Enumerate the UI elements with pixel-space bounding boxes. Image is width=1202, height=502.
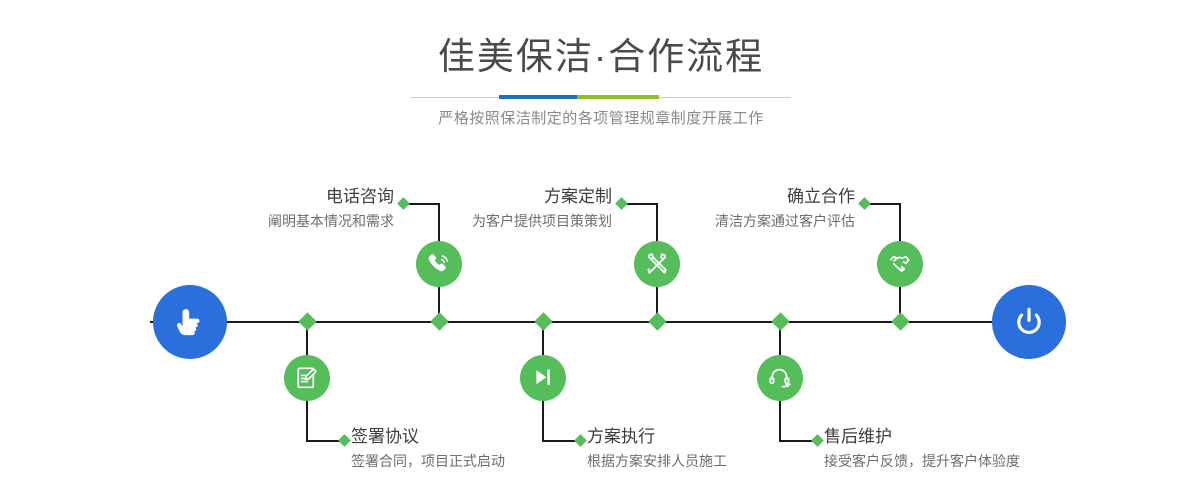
flow-end-endpoint bbox=[992, 285, 1066, 359]
process-flow-diagram: 电话咨询 阐明基本情况和需求 签署协议 签署合同，项目正式启动 bbox=[0, 0, 1202, 502]
phone-call-icon bbox=[426, 251, 452, 277]
step-icon-circle-1 bbox=[416, 241, 462, 287]
handshake-icon bbox=[887, 251, 913, 277]
step-icon-circle-2 bbox=[284, 355, 330, 401]
axis-marker-step-2 bbox=[298, 312, 316, 330]
step-title-2: 签署协议 bbox=[351, 426, 611, 448]
step-label-3: 方案定制 为客户提供项目策策划 bbox=[367, 186, 612, 232]
step-title-5: 确立合作 bbox=[610, 186, 855, 208]
step-label-1: 电话咨询 阐明基本情况和需求 bbox=[149, 186, 394, 232]
step-desc-5: 清洁方案通过客户评估 bbox=[610, 210, 855, 232]
axis-marker-step-6 bbox=[771, 312, 789, 330]
axis-marker-step-4 bbox=[534, 312, 552, 330]
step-icon-circle-6 bbox=[757, 355, 803, 401]
step-label-5: 确立合作 清洁方案通过客户评估 bbox=[610, 186, 855, 232]
step-label-2: 签署协议 签署合同，项目正式启动 bbox=[351, 426, 611, 472]
customer-service-add-icon bbox=[767, 365, 793, 391]
document-edit-icon bbox=[294, 365, 320, 391]
step-desc-3: 为客户提供项目策策划 bbox=[367, 210, 612, 232]
step-icon-circle-4 bbox=[520, 355, 566, 401]
cooperation-process-infographic: 佳美保洁·合作流程 严格按照保洁制定的各项管理规章制度开展工作 bbox=[0, 0, 1202, 502]
step-label-4: 方案执行 根据方案安排人员施工 bbox=[587, 426, 847, 472]
step-title-4: 方案执行 bbox=[587, 426, 847, 448]
label-marker-step-2 bbox=[338, 434, 351, 447]
pointing-hand-icon bbox=[170, 302, 210, 342]
step-title-6: 售后维护 bbox=[824, 426, 1104, 448]
step-desc-4: 根据方案安排人员施工 bbox=[587, 450, 847, 472]
step-desc-1: 阐明基本情况和需求 bbox=[149, 210, 394, 232]
step-icon-circle-5 bbox=[877, 241, 923, 287]
label-marker-step-5 bbox=[858, 197, 871, 210]
step-title-3: 方案定制 bbox=[367, 186, 612, 208]
power-button-icon bbox=[1009, 302, 1049, 342]
step-desc-2: 签署合同，项目正式启动 bbox=[351, 450, 611, 472]
step-desc-6: 接受客户反馈，提升客户体验度 bbox=[824, 450, 1104, 472]
flow-start-endpoint bbox=[153, 285, 227, 359]
pencil-ruler-icon bbox=[644, 251, 670, 277]
play-execute-icon bbox=[530, 365, 556, 391]
axis-marker-step-1 bbox=[430, 312, 448, 330]
step-title-1: 电话咨询 bbox=[149, 186, 394, 208]
step-label-6: 售后维护 接受客户反馈，提升客户体验度 bbox=[824, 426, 1104, 472]
axis-marker-step-5 bbox=[891, 312, 909, 330]
timeline-axis bbox=[150, 321, 1052, 323]
axis-marker-step-3 bbox=[648, 312, 666, 330]
step-icon-circle-3 bbox=[634, 241, 680, 287]
